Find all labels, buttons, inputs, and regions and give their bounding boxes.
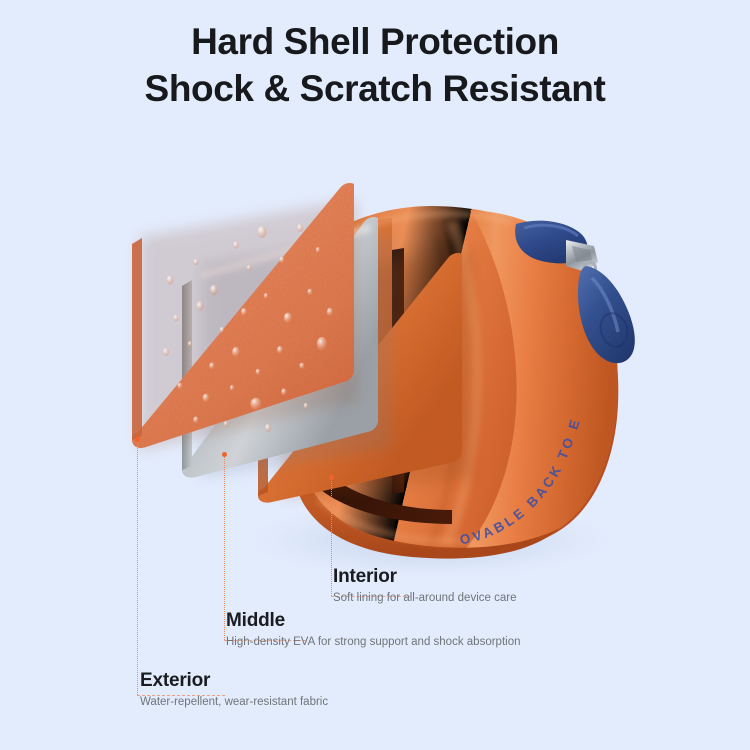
annotation-middle: Middle High-density EVA for strong suppo… (226, 610, 520, 650)
annotation-interior-title: Interior (333, 566, 516, 588)
annotation-interior: Interior Soft lining for all-around devi… (333, 566, 516, 606)
headline-block: Hard Shell Protection Shock & Scratch Re… (0, 18, 750, 113)
callout-marker-interior (329, 475, 334, 480)
annotation-middle-title: Middle (226, 610, 520, 632)
callout-marker-exterior (135, 437, 140, 442)
annotation-exterior-desc: Water-repellent, wear-resistant fabric (140, 695, 328, 710)
annotation-exterior-title: Exterior (140, 670, 328, 692)
annotation-interior-desc: Soft lining for all-around device care (333, 591, 516, 606)
headline-line-1: Hard Shell Protection (0, 18, 750, 65)
infographic-canvas: Hard Shell Protection Shock & Scratch Re… (0, 0, 750, 750)
fabric-swatch-left-edge (132, 238, 142, 440)
headline-line-2: Shock & Scratch Resistant (0, 65, 750, 112)
annotation-middle-desc: High-density EVA for strong support and … (226, 635, 520, 650)
annotation-exterior: Exterior Water-repellent, wear-resistant… (140, 670, 328, 710)
callout-marker-middle (222, 452, 227, 457)
